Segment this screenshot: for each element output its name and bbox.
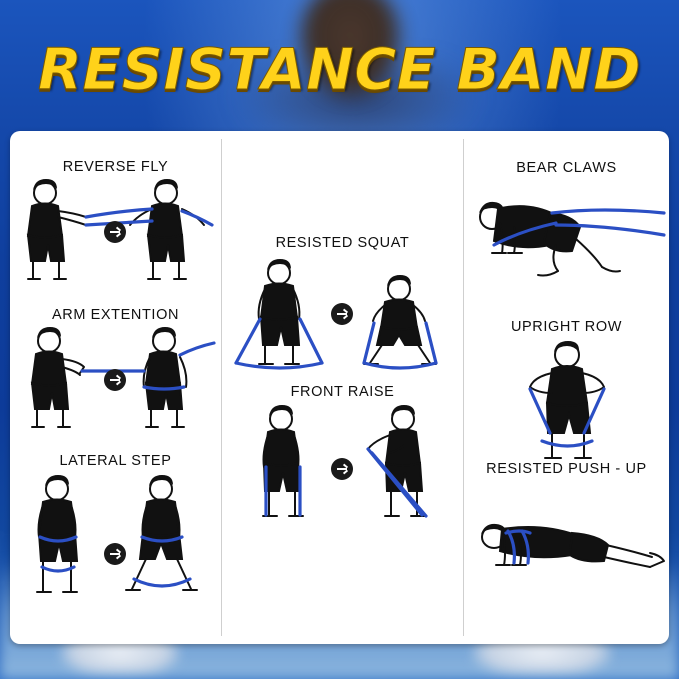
pair-arrow-badge-arm-extention (104, 369, 126, 391)
exercise-label-front-raise: FRONT RAISE (222, 384, 463, 400)
exercise-label-resisted-push-up: RESISTED PUSH - UP (464, 461, 669, 477)
column-left: REVERSE FLY (10, 131, 221, 644)
exercise-illustration-bear-claws (464, 183, 669, 303)
column-middle: RESISTED SQUAT (222, 131, 463, 644)
exercise-illustration-resisted-push-up (464, 487, 669, 607)
poster: RESISTANCE BAND REVERSE FLY (0, 0, 679, 679)
pair-arrow-badge-lateral-step (104, 543, 126, 565)
pair-arrow-badge-reverse-fly (104, 221, 126, 243)
pair-arrow-badge-front-raise (331, 458, 353, 480)
column-right: BEAR CLAWS (464, 131, 669, 644)
exercise-label-bear-claws: BEAR CLAWS (464, 160, 669, 176)
page-title: RESISTANCE BAND (0, 42, 679, 99)
exercise-card: REVERSE FLY (10, 131, 669, 644)
exercise-label-resisted-squat: RESISTED SQUAT (222, 235, 463, 251)
exercise-label-reverse-fly: REVERSE FLY (10, 159, 221, 175)
exercise-label-lateral-step: LATERAL STEP (10, 453, 221, 469)
pair-arrow-badge-resisted-squat (331, 303, 353, 325)
exercise-label-upright-row: UPRIGHT ROW (464, 319, 669, 335)
exercise-label-arm-extention: ARM EXTENTION (10, 307, 221, 323)
exercise-illustration-upright-row (464, 341, 669, 461)
